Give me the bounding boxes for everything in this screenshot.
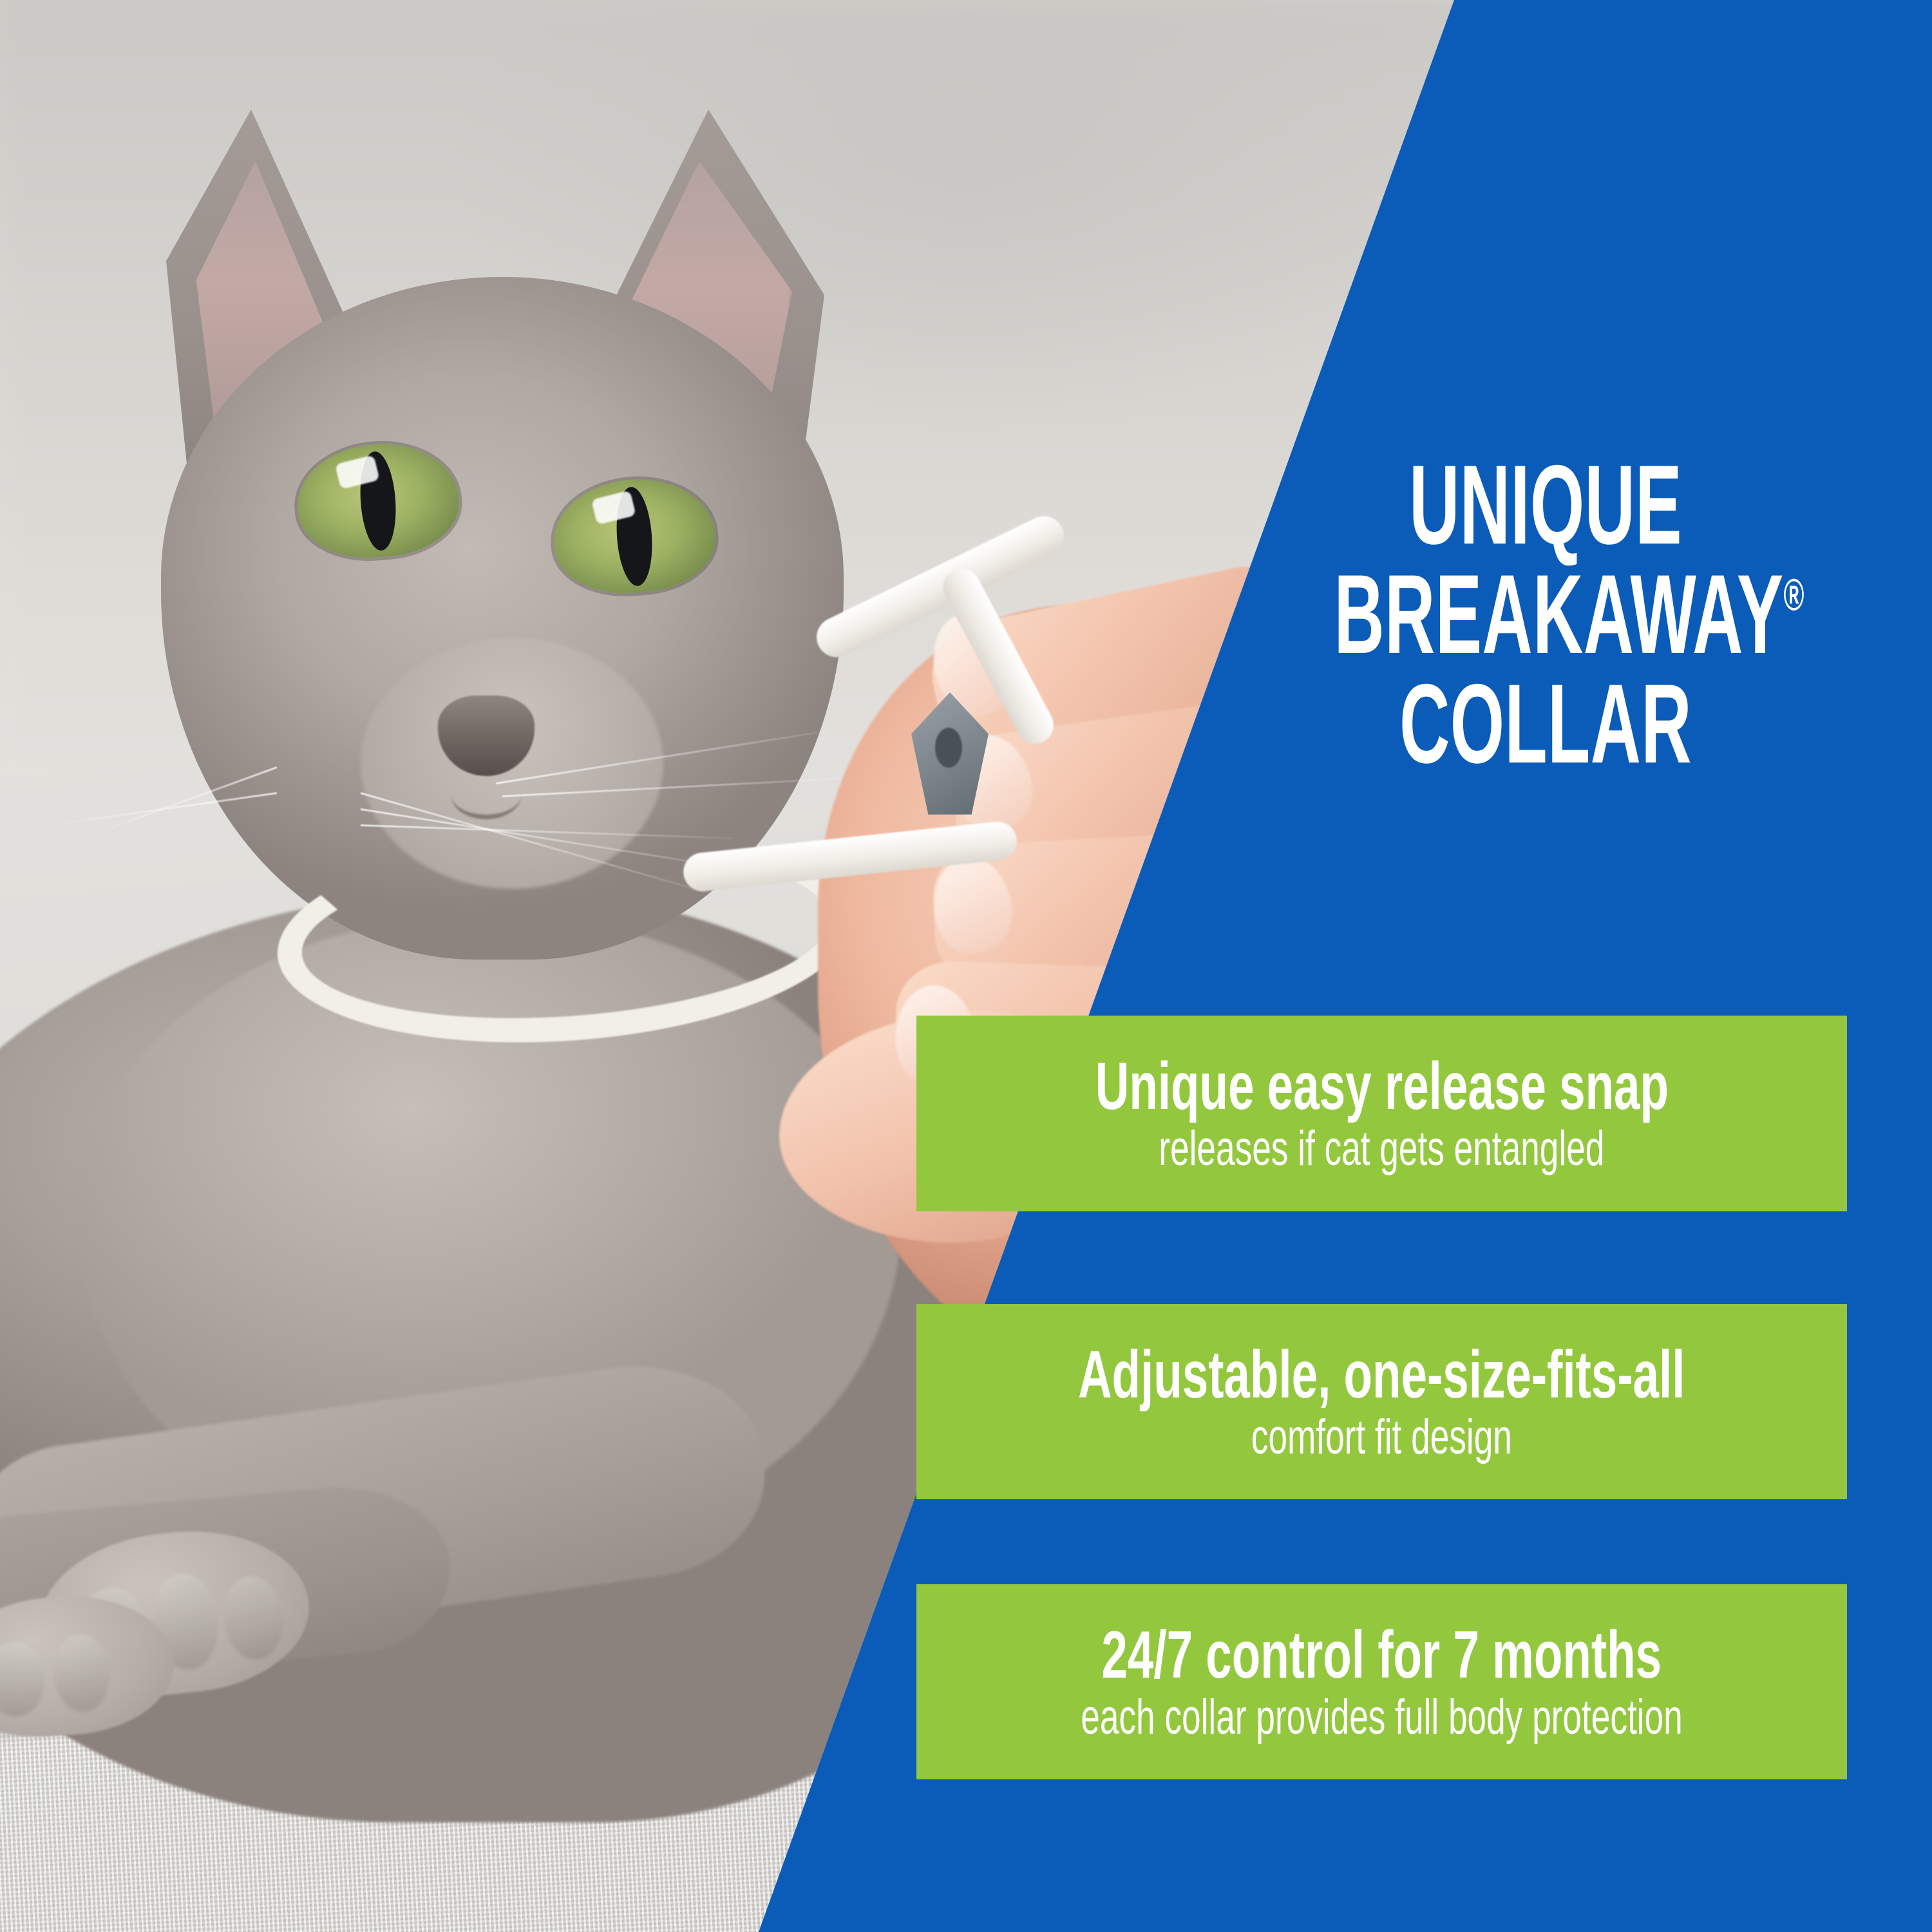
page-title: UNIQUE BREAKAWAY® COLLAR xyxy=(1204,451,1887,779)
feature-box-3: 24/7 control for 7 months each collar pr… xyxy=(916,1584,1847,1779)
feature-box-2: Adjustable, one-size-fits-all comfort fi… xyxy=(916,1304,1847,1499)
feature-1-subtitle: releases if cat gets entangled xyxy=(1159,1123,1604,1175)
headline-line-2: BREAKAWAY® xyxy=(1334,560,1757,670)
breakaway-buckle-hole xyxy=(935,728,962,768)
feature-box-1: Unique easy release snap releases if cat… xyxy=(916,1016,1847,1211)
registered-trademark-icon: ® xyxy=(1784,569,1804,620)
headline-line-2-text: BREAKAWAY xyxy=(1334,552,1783,677)
product-feature-poster: UNIQUE BREAKAWAY® COLLAR Unique easy rel… xyxy=(0,0,1932,1932)
feature-2-subtitle: comfort fit design xyxy=(1251,1412,1512,1463)
feature-2-title: Adjustable, one-size-fits-all xyxy=(1078,1341,1685,1409)
headline-line-1: UNIQUE xyxy=(1334,451,1757,560)
feature-1-title: Unique easy release snap xyxy=(1095,1052,1668,1121)
feature-3-subtitle: each collar provides full body protectio… xyxy=(1081,1692,1682,1743)
feature-3-title: 24/7 control for 7 months xyxy=(1102,1621,1662,1689)
headline-line-3: COLLAR xyxy=(1334,670,1757,779)
